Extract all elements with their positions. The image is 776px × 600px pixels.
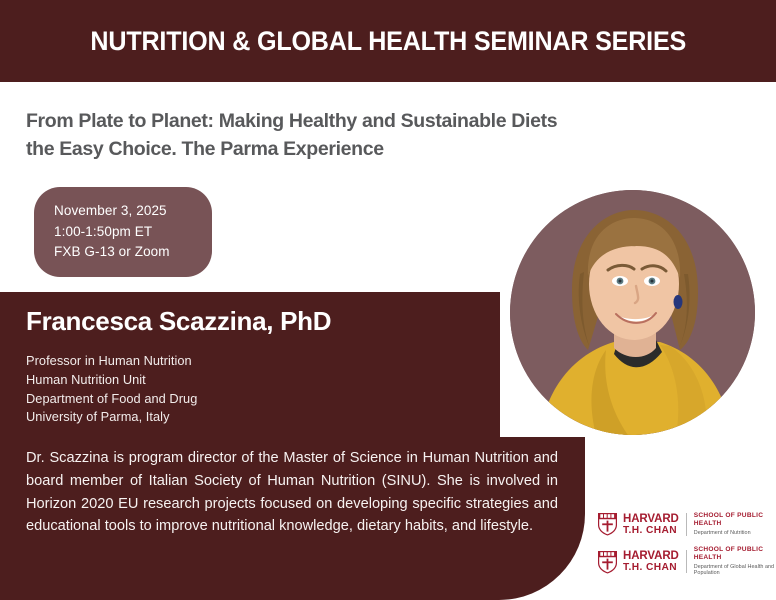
wordmark-th-chan: T.H. CHAN [623, 562, 679, 573]
harvard-logo-nutrition: HARVARD T.H. CHAN SCHOOL OF PUBLIC HEALT… [597, 512, 776, 537]
logo-department-name: Department of Nutrition [694, 530, 776, 537]
speaker-name: Francesca Scazzina, PhD [26, 306, 331, 337]
portrait-illustration [510, 190, 755, 435]
logo-school-block: SCHOOL OF PUBLIC HEALTH Department of Gl… [687, 546, 776, 578]
affiliation-line: Human Nutrition Unit [26, 371, 197, 390]
affiliation-line: Department of Food and Drug [26, 390, 197, 409]
seminar-title-line-1: From Plate to Planet: Making Healthy and… [26, 108, 626, 136]
event-date: November 3, 2025 [54, 201, 212, 222]
wordmark-th-chan: T.H. CHAN [623, 525, 679, 536]
header-banner: NUTRITION & GLOBAL HEALTH SEMINAR SERIES [0, 0, 776, 82]
series-title: NUTRITION & GLOBAL HEALTH SEMINAR SERIES [90, 26, 686, 57]
speaker-affiliations: Professor in Human Nutrition Human Nutri… [26, 352, 197, 427]
speaker-panel [0, 292, 585, 600]
affiliation-line: University of Parma, Italy [26, 408, 197, 427]
speaker-portrait [510, 190, 755, 435]
logo-school-block: SCHOOL OF PUBLIC HEALTH Department of Nu… [687, 512, 776, 537]
harvard-logo-stack: HARVARD T.H. CHAN SCHOOL OF PUBLIC HEALT… [597, 512, 776, 586]
harvard-shield-icon [597, 550, 618, 574]
harvard-wordmark: HARVARD T.H. CHAN [623, 550, 687, 573]
harvard-wordmark: HARVARD T.H. CHAN [623, 513, 687, 536]
event-location: FXB G-13 or Zoom [54, 242, 212, 263]
affiliation-line: Professor in Human Nutrition [26, 352, 197, 371]
event-details-pill: November 3, 2025 1:00-1:50pm ET FXB G-13… [34, 187, 212, 277]
harvard-logo-global-health: HARVARD T.H. CHAN SCHOOL OF PUBLIC HEALT… [597, 546, 776, 578]
speaker-bio: Dr. Scazzina is program director of the … [26, 447, 558, 538]
harvard-shield-icon [597, 512, 618, 536]
logo-school-name: SCHOOL OF PUBLIC HEALTH [694, 512, 776, 528]
logo-school-name: SCHOOL OF PUBLIC HEALTH [694, 546, 776, 562]
seminar-title: From Plate to Planet: Making Healthy and… [26, 108, 626, 163]
logo-department-name: Department of Global Health and Populati… [694, 564, 776, 578]
event-time: 1:00-1:50pm ET [54, 222, 212, 243]
wordmark-harvard: HARVARD [623, 550, 679, 562]
seminar-title-line-2: the Easy Choice. The Parma Experience [26, 136, 626, 164]
wordmark-harvard: HARVARD [623, 513, 679, 525]
